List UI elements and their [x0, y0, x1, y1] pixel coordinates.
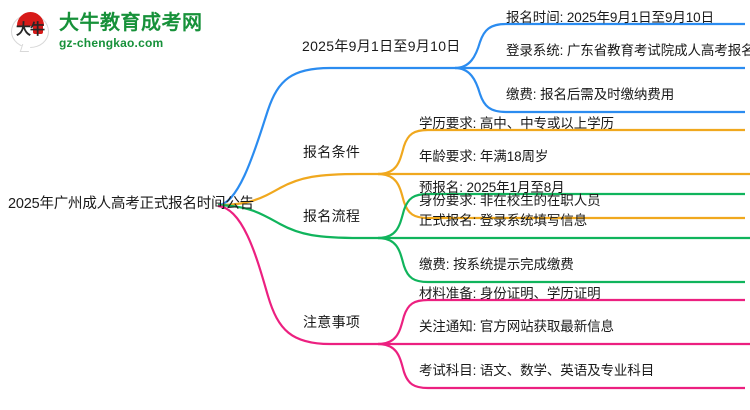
- site-logo: 大牛 大牛教育成考网 gz-chengkao.com: [10, 6, 220, 56]
- mindmap-page: 大牛 大牛教育成考网 gz-chengkao.com 2025年广州成人高考正式…: [0, 0, 750, 410]
- logo-bubble-icon: 大牛: [10, 10, 52, 52]
- leaf-node-4-1: 材料准备: 身份证明、学历证明: [419, 284, 601, 303]
- branch-label-2: 报名条件: [303, 142, 360, 162]
- leaf-node-3-2: 正式报名: 登录系统填写信息: [419, 211, 587, 230]
- logo-bubble-tail: [20, 44, 32, 52]
- mindmap-root-label: 2025年广州成人高考正式报名时间公告: [8, 194, 254, 214]
- leaf-node-2-1: 学历要求: 高中、中专或以上学历: [419, 114, 614, 133]
- leaf-node-1-2: 登录系统: 广东省教育考试院成人高考报名系统: [506, 41, 750, 60]
- logo-subtitle: gz-chengkao.com: [59, 37, 203, 49]
- logo-mark-text: 大牛: [13, 21, 47, 38]
- branch-label-4: 注意事项: [303, 312, 360, 332]
- leaf-node-1-1: 报名时间: 2025年9月1日至9月10日: [506, 8, 714, 27]
- leaf-node-4-2: 关注通知: 官方网站获取最新信息: [419, 317, 614, 336]
- leaf-node-4-3: 考试科目: 语文、数学、英语及专业科目: [419, 361, 654, 380]
- leaf-node-3-1: 预报名: 2025年1月至8月: [419, 178, 565, 197]
- leaf-node-2-2: 年龄要求: 年满18周岁: [419, 147, 548, 166]
- branch-label-1: 2025年9月1日至9月10日: [302, 36, 461, 56]
- logo-title: 大牛教育成考网: [59, 13, 203, 33]
- leaf-node-3-3: 缴费: 按系统提示完成缴费: [419, 255, 574, 274]
- logo-text-block: 大牛教育成考网 gz-chengkao.com: [59, 13, 203, 49]
- branch-label-3: 报名流程: [303, 206, 360, 226]
- leaf-node-1-3: 缴费: 报名后需及时缴纳费用: [506, 85, 674, 104]
